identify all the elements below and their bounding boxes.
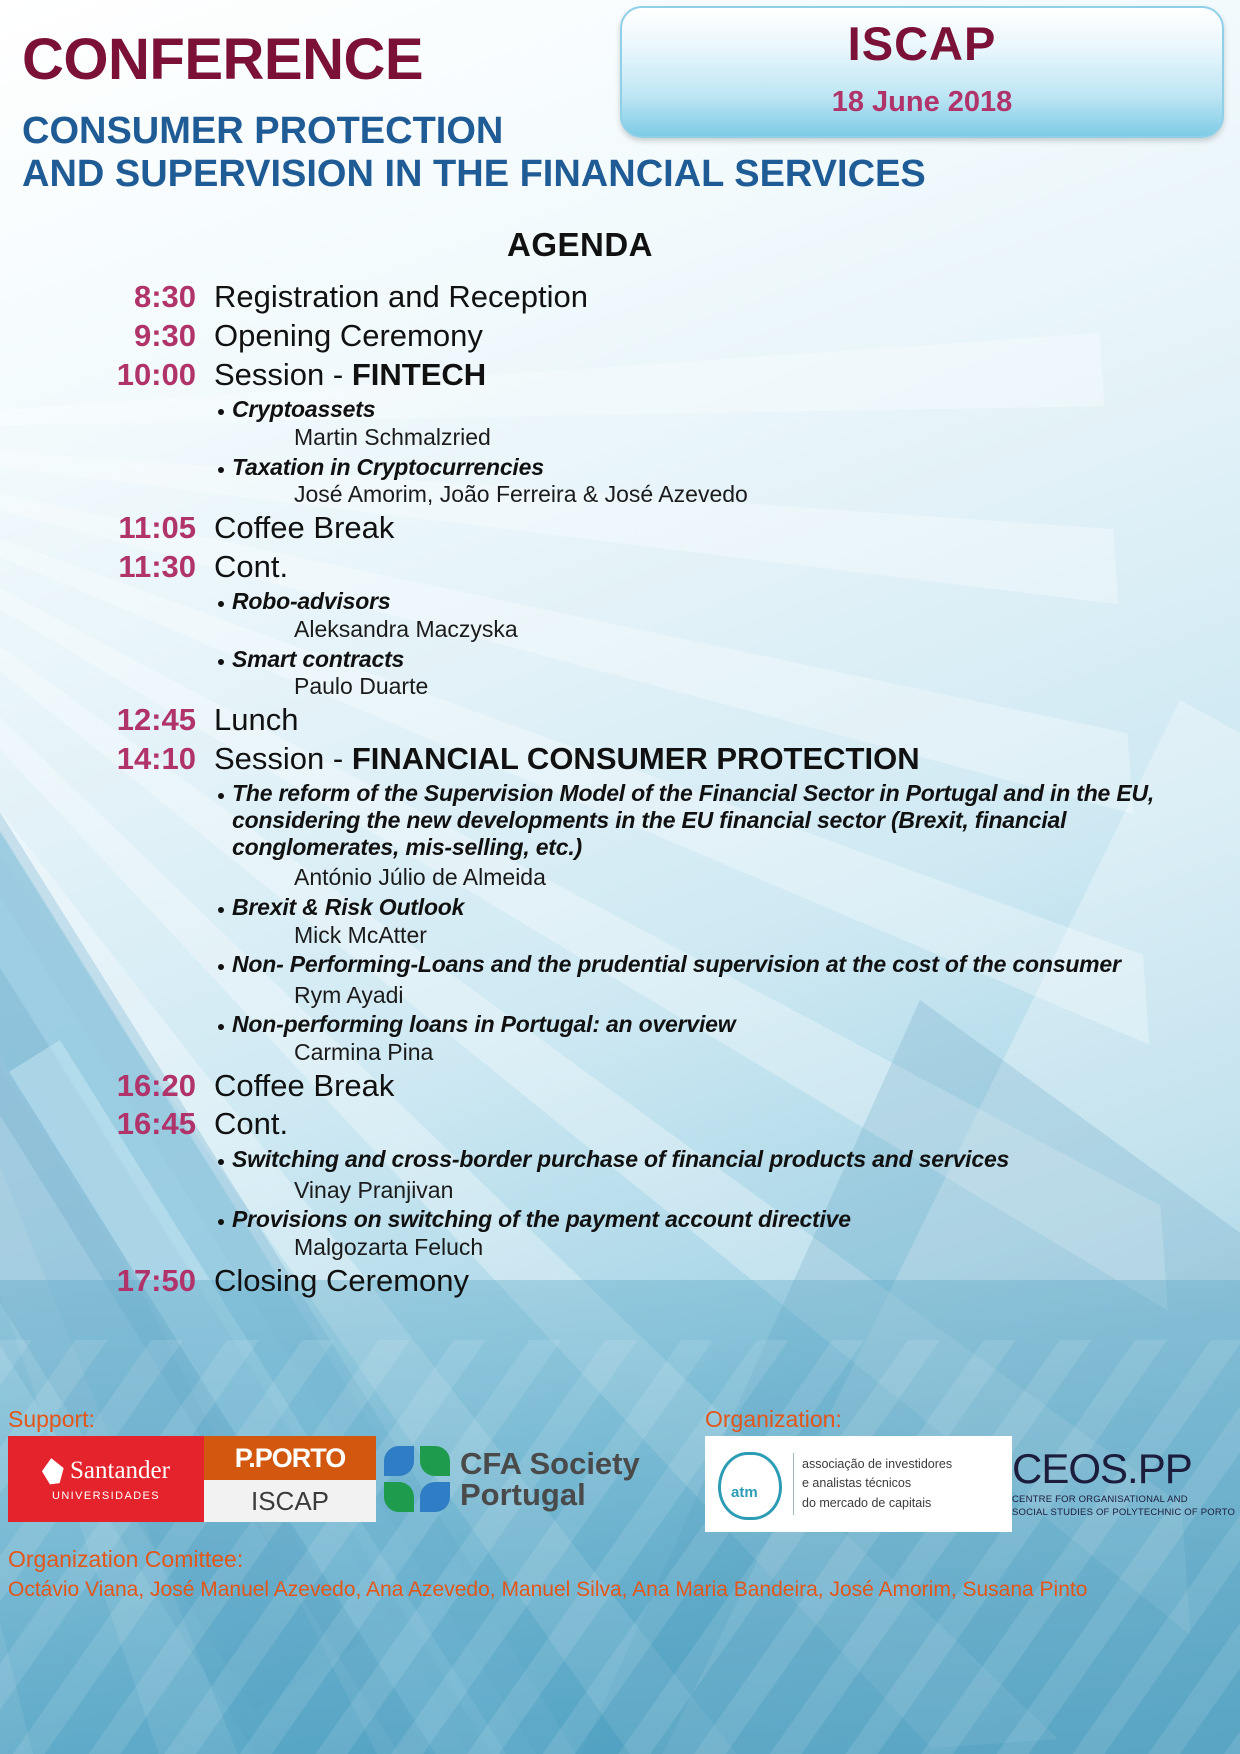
talk-title: Taxation in Cryptocurrencies [232,454,1240,481]
atm-description: associação de investidores e analistas t… [802,1455,952,1513]
agenda-slot: 12:45Lunch [0,701,1240,740]
talk-item: Non- Performing-Loans and the prudential… [0,951,1240,1009]
bullet-icon [218,467,224,473]
atm-desc-line-1: associação de investidores [802,1455,952,1474]
agenda-label: Cont. [214,1105,288,1144]
agenda-time: 14:10 [0,740,214,779]
talk-speaker: Martin Schmalzried [294,424,1240,452]
talk-speaker: Paulo Duarte [294,673,1240,701]
agenda-label: Registration and Reception [214,278,588,317]
agenda-label: Coffee Break [214,509,394,548]
agenda-time: 8:30 [0,278,214,317]
bullet-icon [218,1024,224,1030]
agenda-label-plain: Coffee Break [214,1068,394,1103]
atm-logo: atm associação de investidores e analist… [705,1436,1012,1532]
talk-speaker: Vinay Pranjivan [294,1177,1240,1205]
divider [793,1453,794,1515]
atm-wordmark: atm [731,1484,758,1501]
bullet-icon [218,907,224,913]
talk-item: The reform of the Supervision Model of t… [0,780,1240,892]
agenda-time: 11:05 [0,509,214,548]
agenda-label-plain: Session - [214,741,352,776]
flame-icon [40,1456,65,1485]
committee-label: Organization Comittee: [8,1546,243,1573]
agenda-time: 9:30 [0,317,214,356]
agenda-time: 10:00 [0,356,214,395]
talk-list: Switching and cross-border purchase of f… [0,1146,1240,1262]
talk-speaker: António Júlio de Almeida [294,864,1240,892]
event-date: 18 June 2018 [622,86,1222,119]
talk-speaker: José Amorim, João Ferreira & José Azeved… [294,481,1240,509]
talk-list: CryptoassetsMartin SchmalzriedTaxation i… [0,396,1240,509]
santander-wordmark: Santander [70,1457,170,1485]
santander-logo: Santander UNIVERSIDADES [8,1436,204,1522]
talk-title: Non- Performing-Loans and the prudential… [232,951,1240,978]
cfa-wordmark: CFA Society Portugal [460,1448,640,1510]
talk-title: Smart contracts [232,646,1240,673]
talk-speaker: Rym Ayadi [294,982,1240,1010]
agenda-slot: 17:50Closing Ceremony [0,1262,1240,1301]
agenda-time: 12:45 [0,701,214,740]
agenda-label-plain: Lunch [214,702,298,737]
bullet-icon [218,964,224,970]
atm-desc-line-2: e analistas técnicos [802,1474,952,1493]
agenda-slot: 16:45Cont. [0,1105,1240,1144]
organization-logos: atm associação de investidores e analist… [705,1436,1237,1532]
pinwheel-icon [384,1446,450,1512]
talk-title: Provisions on switching of the payment a… [232,1206,1240,1233]
santander-subtitle: UNIVERSIDADES [52,1490,160,1502]
conference-label: CONFERENCE [22,26,423,93]
bullet-icon [218,1219,224,1225]
talk-item: CryptoassetsMartin Schmalzried [0,396,1240,451]
agenda-label-emphasis: FINTECH [352,357,486,392]
agenda-label-emphasis: FINANCIAL CONSUMER PROTECTION [352,741,920,776]
talk-item: Taxation in CryptocurrenciesJosé Amorim,… [0,454,1240,509]
cfa-society-logo: CFA Society Portugal [376,1436,684,1522]
talk-item: Provisions on switching of the payment a… [0,1206,1240,1261]
atm-figure-icon: atm [711,1444,785,1524]
ceos-desc-line-2: SOCIAL STUDIES OF POLYTECHNIC OF PORTO [1012,1507,1237,1520]
agenda-slot: 10:00Session - FINTECH [0,356,1240,395]
agenda-slot: 16:20Coffee Break [0,1067,1240,1106]
bullet-icon [218,659,224,665]
agenda-slot: 9:30Opening Ceremony [0,317,1240,356]
agenda-time: 16:20 [0,1067,214,1106]
agenda-time: 17:50 [0,1262,214,1301]
agenda-label-plain: Session - [214,357,352,392]
talk-title: Brexit & Risk Outlook [232,894,1240,921]
ceos-description: CENTRE FOR ORGANISATIONAL AND SOCIAL STU… [1012,1494,1237,1520]
cfa-line-2: Portugal [460,1479,640,1510]
conference-poster: CONFERENCE CONSUMER PROTECTION AND SUPER… [0,0,1240,1754]
agenda-label: Opening Ceremony [214,317,483,356]
venue-name: ISCAP [622,16,1222,71]
talk-item: Switching and cross-border purchase of f… [0,1146,1240,1204]
talk-item: Brexit & Risk OutlookMick McAtter [0,894,1240,949]
talk-title: Cryptoassets [232,396,1240,423]
venue-date-badge: ISCAP 18 June 2018 [620,6,1224,138]
talk-list: The reform of the Supervision Model of t… [0,780,1240,1066]
ceos-wordmark: CEOS.PP [1012,1448,1237,1490]
talk-item: Non-performing loans in Portugal: an ove… [0,1011,1240,1066]
bullet-icon [218,409,224,415]
subtitle-line-2: AND SUPERVISION IN THE FINANCIAL SERVICE… [22,153,1002,196]
agenda-label-plain: Cont. [214,1106,288,1141]
ceos-desc-line-1: CENTRE FOR ORGANISATIONAL AND [1012,1494,1237,1507]
talk-item: Smart contractsPaulo Duarte [0,646,1240,701]
talk-title: Switching and cross-border purchase of f… [232,1146,1240,1173]
talk-title: The reform of the Supervision Model of t… [232,780,1240,860]
agenda-label: Session - FINANCIAL CONSUMER PROTECTION [214,740,920,779]
talk-title: Robo-advisors [232,588,1240,615]
support-logos: Santander UNIVERSIDADES P.PORTO ISCAP CF… [8,1436,684,1522]
bullet-icon [218,793,224,799]
committee-names: Octávio Viana, José Manuel Azevedo, Ana … [8,1578,1238,1602]
bullet-icon [218,1159,224,1165]
talk-title: Non-performing loans in Portugal: an ove… [232,1011,1240,1038]
pporto-iscap-logo: P.PORTO ISCAP [204,1436,376,1522]
agenda-label-plain: Opening Ceremony [214,318,483,353]
agenda-label-plain: Cont. [214,549,288,584]
agenda-slot: 8:30Registration and Reception [0,278,1240,317]
talk-speaker: Carmina Pina [294,1039,1240,1067]
talk-item: Robo-advisorsAleksandra Maczyska [0,588,1240,643]
cfa-line-1: CFA Society [460,1448,640,1479]
iscap-wordmark: ISCAP [204,1480,376,1522]
agenda-slot: 11:30Cont. [0,548,1240,587]
talk-list: Robo-advisorsAleksandra MaczyskaSmart co… [0,588,1240,701]
talk-speaker: Mick McAtter [294,922,1240,950]
agenda-label: Cont. [214,548,288,587]
talk-speaker: Malgozarta Feluch [294,1234,1240,1262]
bullet-icon [218,601,224,607]
agenda-heading: AGENDA [0,226,1160,264]
agenda-label: Closing Ceremony [214,1262,469,1301]
agenda-label-plain: Registration and Reception [214,279,588,314]
agenda-list: 8:30Registration and Reception9:30Openin… [0,278,1240,1301]
ceos-pp-logo: CEOS.PP CENTRE FOR ORGANISATIONAL AND SO… [1012,1436,1237,1532]
agenda-time: 11:30 [0,548,214,587]
organization-label: Organization: [705,1406,842,1433]
pporto-wordmark: P.PORTO [204,1436,376,1480]
agenda-label: Lunch [214,701,298,740]
support-label: Support: [8,1406,95,1433]
agenda-time: 16:45 [0,1105,214,1144]
agenda-label: Coffee Break [214,1067,394,1106]
talk-speaker: Aleksandra Maczyska [294,616,1240,644]
agenda-slot: 14:10Session - FINANCIAL CONSUMER PROTEC… [0,740,1240,779]
santander-logo-row: Santander [42,1457,170,1485]
agenda-slot: 11:05Coffee Break [0,509,1240,548]
agenda-label: Session - FINTECH [214,356,486,395]
atm-desc-line-3: do mercado de capitais [802,1494,952,1513]
agenda-label-plain: Coffee Break [214,510,394,545]
agenda-label-plain: Closing Ceremony [214,1263,469,1298]
